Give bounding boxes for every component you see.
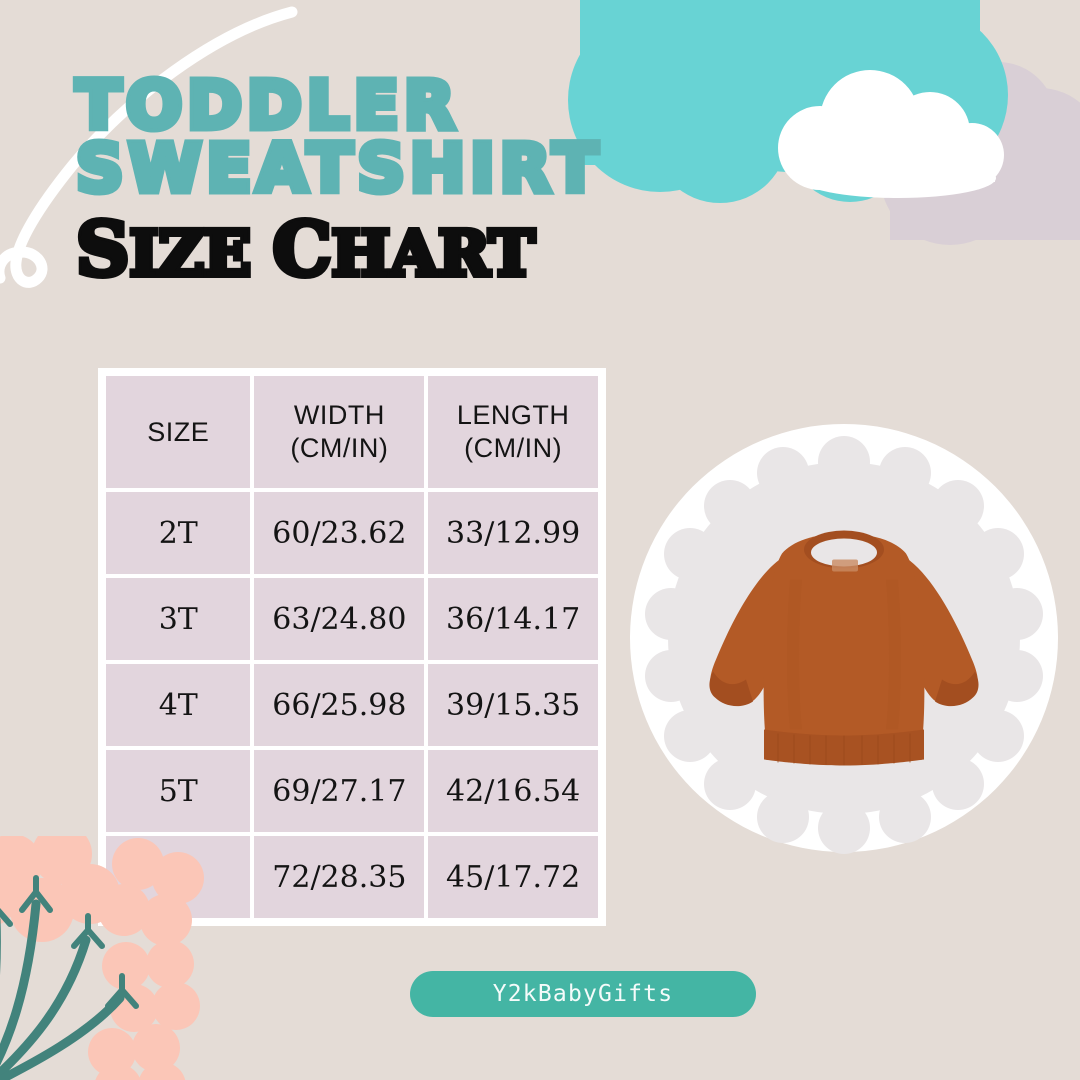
cell-size: 4T (106, 664, 250, 746)
subtitle-cap-s: S (76, 207, 129, 293)
cloud-white-icon (778, 70, 1004, 198)
cell-size: 5T (106, 750, 250, 832)
cell-width: 63/24.80 (254, 578, 424, 660)
table-row: 2T 60/23.62 33/12.99 (106, 492, 598, 574)
cell-width: 72/28.35 (254, 836, 424, 918)
cell-width: 66/25.98 (254, 664, 424, 746)
flower-3 (102, 940, 200, 1032)
cell-width: 69/27.17 (254, 750, 424, 832)
cell-width: 60/23.62 (254, 492, 424, 574)
subtitle-rest-ize: IZE (129, 217, 272, 290)
sweatshirt-image (694, 519, 994, 774)
table-row: 6T 72/28.35 45/17.72 (106, 836, 598, 918)
table-row: 5T 69/27.17 42/16.54 (106, 750, 598, 832)
subtitle-cap-c: C (273, 207, 332, 293)
flower-4 (88, 1024, 186, 1080)
column-header-length-line1: LENGTH (428, 399, 598, 432)
page-title: TODDLER SWEATSHIRT SIZE CHART (76, 74, 776, 287)
table-row: 3T 63/24.80 36/14.17 (106, 578, 598, 660)
column-header-length-line2: (CM/IN) (428, 432, 598, 465)
cell-size: 2T (106, 492, 250, 574)
cell-length: 45/17.72 (428, 836, 598, 918)
column-header-width-line1: WIDTH (254, 399, 424, 432)
subtitle-rest-hart: HART (331, 217, 534, 290)
column-header-width: WIDTH (CM/IN) (254, 376, 424, 488)
cell-length: 39/15.35 (428, 664, 598, 746)
cloud-lavender-icon (880, 62, 1080, 245)
shop-name-badge[interactable]: Y2kBabyGifts (410, 971, 756, 1017)
table-row: 4T 66/25.98 39/15.35 (106, 664, 598, 746)
flower-stems (0, 904, 120, 1080)
cell-length: 36/14.17 (428, 578, 598, 660)
shop-name-label: Y2kBabyGifts (493, 981, 674, 1007)
cell-size: 3T (106, 578, 250, 660)
column-header-size-line1: SIZE (106, 416, 250, 449)
cell-length: 33/12.99 (428, 492, 598, 574)
cell-length: 42/16.54 (428, 750, 598, 832)
size-chart-table: SIZE WIDTH (CM/IN) LENGTH (CM/IN) 2T 60/… (98, 368, 606, 926)
title-line-1: TODDLER (76, 74, 776, 137)
column-header-size: SIZE (106, 376, 250, 488)
size-chart-canvas: TODDLER SWEATSHIRT SIZE CHART SIZE WIDTH… (0, 0, 1080, 1080)
column-header-width-line2: (CM/IN) (254, 432, 424, 465)
cell-size: 6T (106, 836, 250, 918)
title-subtitle: SIZE CHART (76, 213, 776, 287)
title-line-2: SWEATSHIRT (76, 137, 776, 200)
product-image-frame (624, 418, 1064, 858)
column-header-length: LENGTH (CM/IN) (428, 376, 598, 488)
table-header-row: SIZE WIDTH (CM/IN) LENGTH (CM/IN) (106, 376, 598, 488)
